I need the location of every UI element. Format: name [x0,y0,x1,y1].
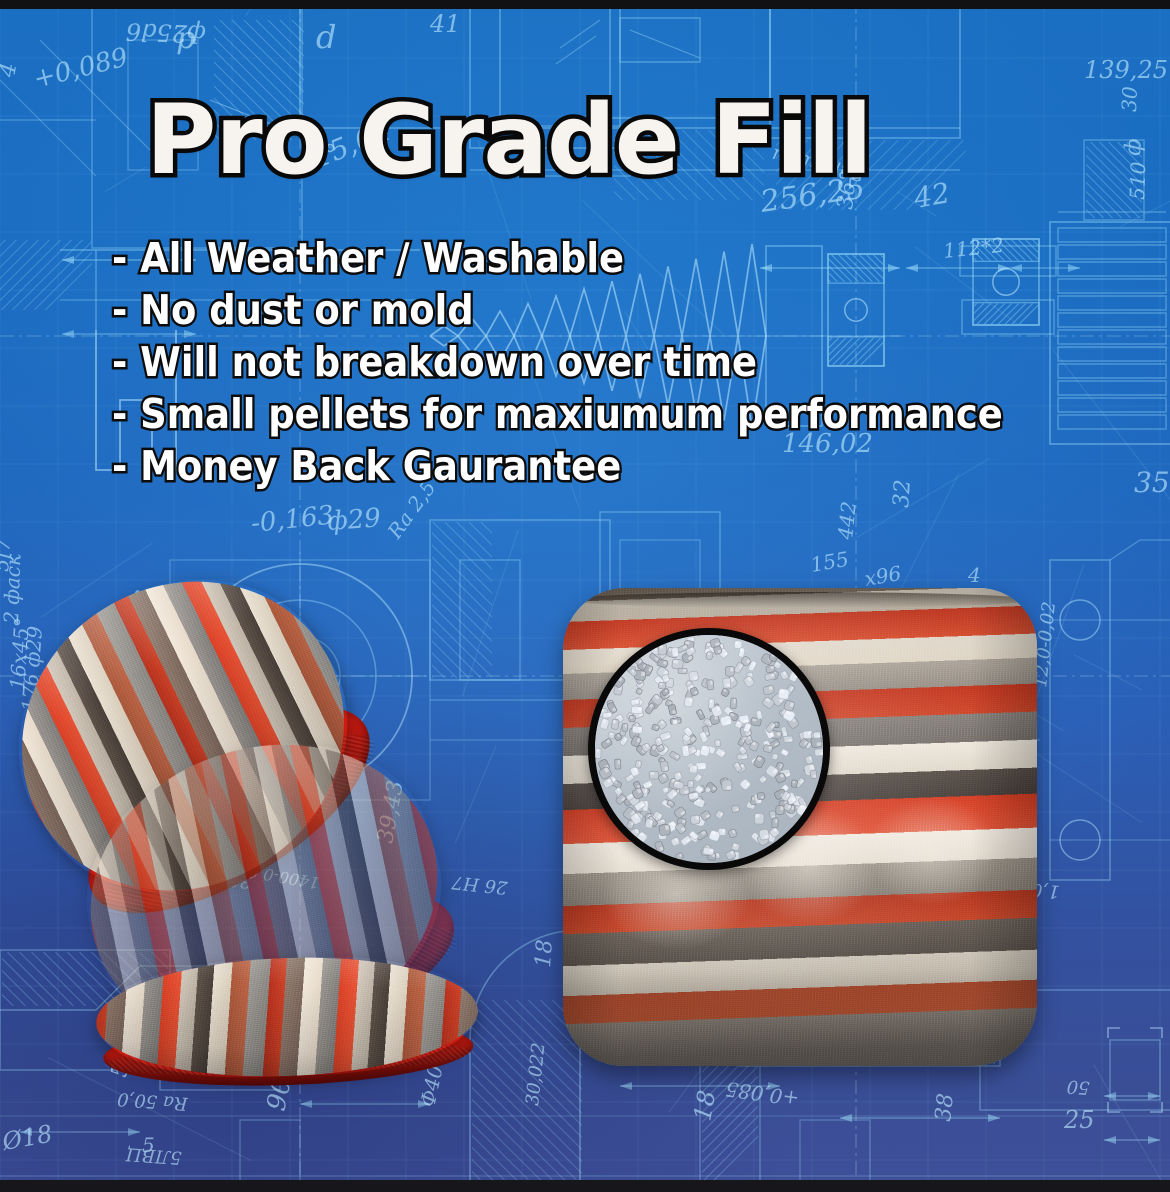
svg-text:35: 35 [1134,466,1170,499]
svg-text:-0,163: -0,163 [250,500,336,539]
bag-fabric-top [94,951,480,1082]
svg-text:26 H7: 26 H7 [450,871,509,898]
pellet-closeup-inset [588,628,830,870]
svg-text:38: 38 [931,1092,959,1122]
svg-text:5ЛВЦ: 5ЛВЦ [124,1143,182,1168]
feature-item: - Small pellets for maxiumum performance [112,388,958,440]
feature-item: - All Weather / Washable [112,232,958,284]
svg-text:41: 41 [429,10,461,38]
svg-text:30: 30 [1117,86,1142,113]
svg-text:4: 4 [0,61,22,80]
feature-item: - Money Back Gaurantee [112,440,958,492]
svg-text:+0,085: +0,085 [724,1077,801,1111]
svg-text:4: 4 [967,563,981,587]
letterbox-bar-bottom [0,1180,1170,1192]
page-title: Pro Grade Fill [146,92,872,188]
svg-text:30,022: 30,022 [522,1042,549,1107]
svg-text:ф: ф [1121,138,1147,156]
svg-text:18: 18 [688,1088,721,1123]
svg-text:42: 42 [911,176,953,215]
letterbox-bar-top [0,0,1170,9]
svg-text:ф29: ф29 [326,503,381,537]
svg-text:Ra 50,0: Ra 50,0 [117,1088,190,1114]
pellet-grains [595,635,823,863]
svg-text:442: 442 [833,500,861,541]
svg-text:Ø18: Ø18 [0,1120,54,1156]
feature-item: - Will not breakdown over time [112,336,958,388]
svg-text:50: 50 [1066,1075,1090,1098]
svg-text:18: 18 [531,939,558,969]
svg-text:5f7: 5f7 [0,538,15,573]
svg-text:25: 25 [1063,1106,1095,1134]
svg-text:x96: x96 [863,561,904,591]
feature-item: - No dust or mold [112,284,958,336]
svg-text:139,25: 139,25 [1084,56,1168,84]
svg-text:ф25d6: ф25d6 [125,17,206,48]
svg-text:510: 510 [1125,161,1150,200]
svg-text:d: d [316,18,336,56]
feature-list: - All Weather / Washable - No dust or mo… [112,232,1052,492]
svg-text:155: 155 [809,547,851,577]
bean-bag-bottom-left [94,951,480,1082]
marketing-graphic: +0,0894pф25d6d4115,64256,2536°+10'3впдшп… [0,0,1170,1192]
